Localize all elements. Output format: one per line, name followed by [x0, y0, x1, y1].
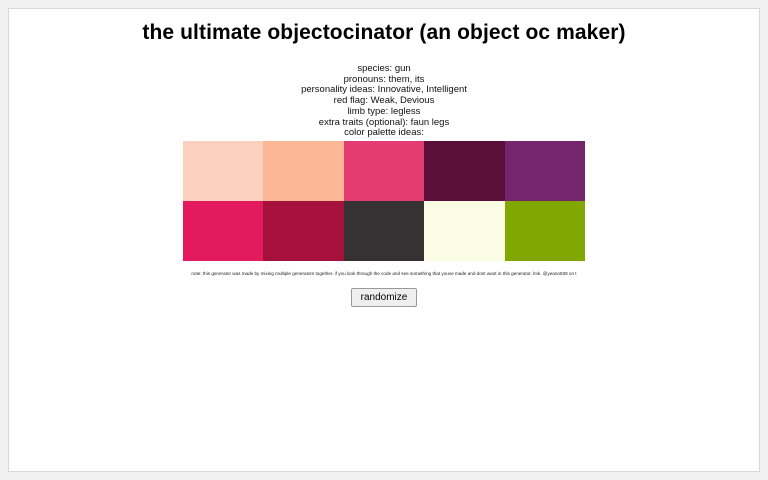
color-swatch-4	[424, 141, 504, 201]
color-swatch-9	[424, 201, 504, 261]
color-palette	[183, 141, 585, 261]
trait-limb-type: limb type: legless	[9, 107, 759, 118]
color-swatch-1	[183, 141, 263, 201]
trait-color-palette-ideas: color palette ideas:	[9, 128, 759, 139]
color-swatch-3	[344, 141, 424, 201]
color-swatch-8	[344, 201, 424, 261]
randomize-button[interactable]: randomize	[351, 288, 418, 307]
color-swatch-10	[505, 201, 585, 261]
color-swatch-6	[183, 201, 263, 261]
color-swatch-2	[263, 141, 343, 201]
color-swatch-7	[263, 201, 343, 261]
randomize-button-wrap: randomize	[9, 287, 759, 307]
page-container: the ultimate objectocinator (an object o…	[8, 8, 760, 472]
color-swatch-5	[505, 141, 585, 201]
page-title: the ultimate objectocinator (an object o…	[9, 9, 759, 45]
palette-row-1	[183, 141, 585, 201]
palette-row-2	[183, 201, 585, 261]
traits-list: species: gun pronouns: them, its persona…	[9, 64, 759, 139]
footer-note: note: this generator was made by mixing …	[9, 270, 759, 277]
